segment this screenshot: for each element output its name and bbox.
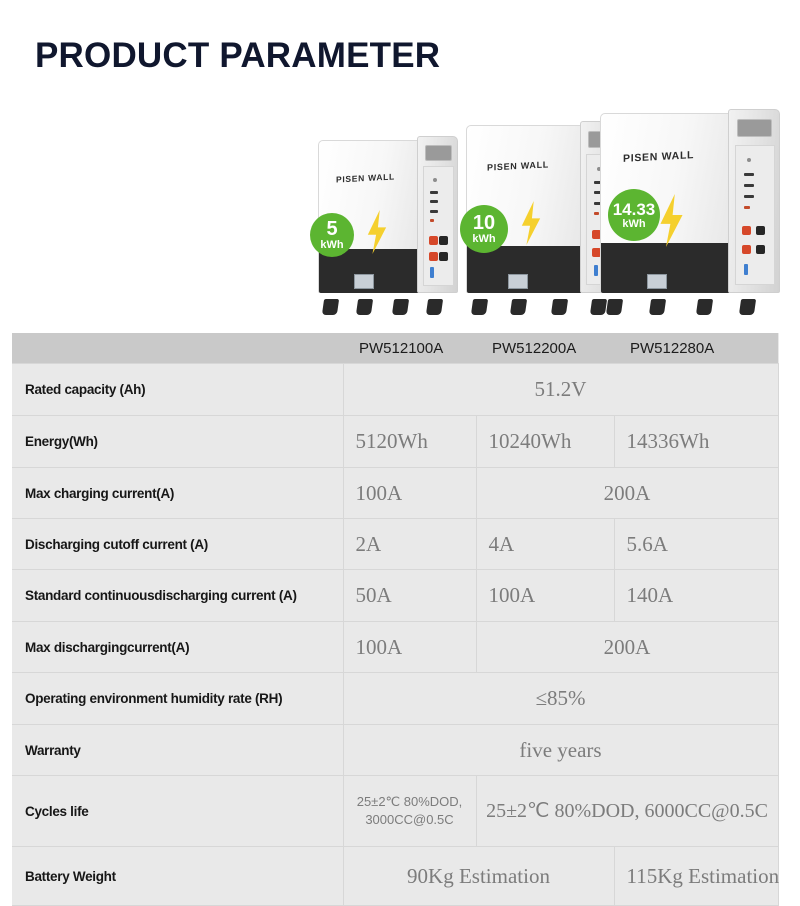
terminal-negative bbox=[756, 226, 765, 235]
row-value-max-discharging-23: 200A bbox=[476, 622, 778, 673]
port-indicator bbox=[744, 264, 748, 275]
table-row: Max charging current(A) 100A 200A bbox=[12, 468, 778, 519]
row-value-standard-2: 100A bbox=[476, 570, 614, 622]
table-row: Battery Weight 90Kg Estimation 115Kg Est… bbox=[12, 847, 778, 906]
display-screen bbox=[508, 274, 528, 289]
battery-feet bbox=[604, 293, 777, 315]
spec-table: PW512100A PW512200A PW512280A Rated capa… bbox=[12, 333, 779, 906]
lightning-bolt-icon bbox=[366, 210, 388, 254]
foot bbox=[426, 299, 443, 315]
battery-side-panel bbox=[417, 136, 458, 293]
table-row: Discharging cutoff current (A) 2A 4A 5.6… bbox=[12, 519, 778, 570]
vent-grille bbox=[737, 119, 772, 137]
row-label-cycles-life: Cycles life bbox=[12, 776, 343, 847]
terminal-negative bbox=[439, 236, 448, 245]
vent-grille bbox=[425, 145, 452, 161]
capacity-badge-14kwh: 14.33 kWh bbox=[608, 189, 660, 241]
lightning-bolt-icon bbox=[658, 194, 685, 247]
indicator-dot bbox=[433, 178, 437, 182]
led-bar-alert bbox=[594, 212, 599, 215]
capacity-badge-10kwh: 10 kWh bbox=[460, 205, 508, 253]
row-value-weight-3: 115Kg Estimation bbox=[614, 847, 778, 906]
port-indicator bbox=[594, 265, 598, 276]
header-model-pw512100a: PW512100A bbox=[343, 333, 476, 364]
foot bbox=[649, 299, 666, 315]
header-row: PW512100A PW512200A PW512280A bbox=[12, 333, 778, 364]
led-bar bbox=[744, 173, 754, 176]
terminal-negative bbox=[439, 252, 448, 261]
header-model-pw512280a: PW512280A bbox=[614, 333, 778, 364]
table-row: Rated capacity (Ah) 51.2V bbox=[12, 364, 778, 416]
product-image-group: PISEN WALL 5 kWh bbox=[0, 100, 800, 315]
row-label-rated-capacity: Rated capacity (Ah) bbox=[12, 364, 343, 416]
table-row: Warranty five years bbox=[12, 725, 778, 776]
led-bar bbox=[744, 184, 754, 187]
header-spec-blank bbox=[12, 333, 343, 364]
foot bbox=[356, 299, 373, 315]
row-value-cutoff-2: 4A bbox=[476, 519, 614, 570]
spec-table-body: Rated capacity (Ah) 51.2V Energy(Wh) 512… bbox=[12, 364, 778, 906]
table-row: Operating environment humidity rate (RH)… bbox=[12, 673, 778, 725]
header-model-pw512200a: PW512200A bbox=[476, 333, 614, 364]
table-row: Energy(Wh) 5120Wh 10240Wh 14336Wh bbox=[12, 416, 778, 468]
row-value-max-charging-1: 100A bbox=[343, 468, 476, 519]
row-value-warranty-all: five years bbox=[343, 725, 778, 776]
row-value-cutoff-3: 5.6A bbox=[614, 519, 778, 570]
indicator-dot bbox=[747, 158, 751, 162]
capacity-value: 5 bbox=[326, 219, 337, 239]
table-row: Max dischargingcurrent(A) 100A 200A bbox=[12, 622, 778, 673]
terminal-positive bbox=[429, 252, 438, 261]
foot bbox=[322, 299, 339, 315]
control-panel bbox=[423, 166, 454, 285]
row-value-max-discharging-1: 100A bbox=[343, 622, 476, 673]
row-label-battery-weight: Battery Weight bbox=[12, 847, 343, 906]
spec-table-container: PW512100A PW512200A PW512280A Rated capa… bbox=[12, 333, 778, 906]
foot bbox=[606, 299, 623, 315]
row-value-cycles-1: 25±2℃ 80%DOD, 3000CC@0.5C bbox=[343, 776, 476, 847]
terminal-negative bbox=[756, 245, 765, 254]
product-unit-14kwh: PISEN WALL 14.33 kWh bbox=[600, 113, 780, 315]
foot bbox=[471, 299, 488, 315]
row-value-energy-1: 5120Wh bbox=[343, 416, 476, 468]
control-panel bbox=[735, 145, 775, 285]
led-bar-alert bbox=[430, 219, 434, 222]
page-title: PRODUCT PARAMETER bbox=[35, 36, 440, 76]
table-row: Cycles life 25±2℃ 80%DOD, 3000CC@0.5C 25… bbox=[12, 776, 778, 847]
lightning-bolt-icon bbox=[520, 201, 542, 245]
row-label-energy: Energy(Wh) bbox=[12, 416, 343, 468]
row-value-standard-1: 50A bbox=[343, 570, 476, 622]
row-label-humidity: Operating environment humidity rate (RH) bbox=[12, 673, 343, 725]
display-screen bbox=[647, 274, 667, 289]
row-label-discharging-cutoff: Discharging cutoff current (A) bbox=[12, 519, 343, 570]
led-bar bbox=[744, 195, 754, 198]
foot bbox=[392, 299, 409, 315]
capacity-unit: kWh bbox=[320, 240, 343, 251]
led-bar bbox=[430, 191, 438, 194]
capacity-unit: kWh bbox=[472, 234, 495, 245]
row-label-warranty: Warranty bbox=[12, 725, 343, 776]
row-value-energy-2: 10240Wh bbox=[476, 416, 614, 468]
capacity-value: 14.33 bbox=[613, 201, 656, 218]
terminal-positive bbox=[742, 226, 751, 235]
capacity-unit: kWh bbox=[622, 219, 645, 230]
row-value-rated-capacity-all: 51.2V bbox=[343, 364, 778, 416]
row-value-standard-3: 140A bbox=[614, 570, 778, 622]
port-indicator bbox=[430, 267, 434, 278]
foot bbox=[510, 299, 527, 315]
spec-table-header: PW512100A PW512200A PW512280A bbox=[12, 333, 778, 364]
row-label-standard-continuous-discharging: Standard continuousdischarging current (… bbox=[12, 570, 343, 622]
foot bbox=[551, 299, 568, 315]
led-bar bbox=[430, 210, 438, 213]
row-value-humidity-all: ≤85% bbox=[343, 673, 778, 725]
row-label-max-discharging-current: Max dischargingcurrent(A) bbox=[12, 622, 343, 673]
foot bbox=[696, 299, 713, 315]
row-value-cutoff-1: 2A bbox=[343, 519, 476, 570]
capacity-value: 10 bbox=[473, 213, 495, 233]
terminal-positive bbox=[742, 245, 751, 254]
product-unit-5kwh: PISEN WALL 5 kWh bbox=[318, 140, 458, 315]
battery-feet bbox=[321, 293, 455, 315]
foot bbox=[739, 299, 756, 315]
terminal-positive bbox=[429, 236, 438, 245]
row-value-max-charging-23: 200A bbox=[476, 468, 778, 519]
battery-side-panel bbox=[728, 109, 780, 293]
row-value-weight-12: 90Kg Estimation bbox=[343, 847, 614, 906]
row-value-energy-3: 14336Wh bbox=[614, 416, 778, 468]
row-label-max-charging-current: Max charging current(A) bbox=[12, 468, 343, 519]
led-bar bbox=[430, 200, 438, 203]
row-value-cycles-23: 25±2℃ 80%DOD, 6000CC@0.5C bbox=[476, 776, 778, 847]
capacity-badge-5kwh: 5 kWh bbox=[310, 213, 354, 257]
led-bar-alert bbox=[744, 206, 749, 209]
display-screen bbox=[354, 274, 374, 289]
table-row: Standard continuousdischarging current (… bbox=[12, 570, 778, 622]
